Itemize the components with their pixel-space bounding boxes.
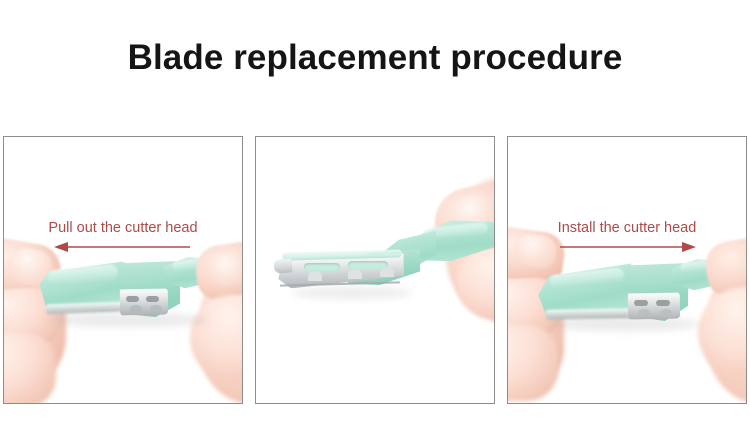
photo-cutter-head <box>256 137 494 403</box>
blade-notch-3 <box>380 267 394 277</box>
blade-notch-left <box>638 309 650 317</box>
tool-shadow <box>550 317 700 331</box>
blade-notch-right <box>660 309 672 317</box>
arrow-left-icon <box>4 241 242 253</box>
right-hand-fingers <box>698 287 746 379</box>
blade-cartridge <box>628 293 680 320</box>
panel-row: Pull out the cutter head <box>3 136 747 404</box>
arrow-right-icon <box>508 241 746 253</box>
blade-slot-left <box>634 300 648 306</box>
panel-install[interactable]: Install the cutter head <box>507 136 747 404</box>
photo-install <box>508 137 746 403</box>
caption-install: Install the cutter head <box>508 219 746 253</box>
tool-shadow <box>48 313 208 327</box>
panel-cutter-head[interactable] <box>255 136 495 404</box>
tool-shadow <box>292 287 412 299</box>
blade-slot-left <box>304 263 340 271</box>
right-hand-fingers <box>190 295 242 381</box>
blade-slot-right <box>146 296 159 302</box>
caption-pull-out-text: Pull out the cutter head <box>4 219 242 237</box>
blade-notch-left <box>130 305 142 313</box>
page-title-text: Blade replacement procedure <box>128 36 623 80</box>
page-root: Blade replacement procedure <box>0 0 750 425</box>
blade-notch-2 <box>348 269 362 279</box>
caption-pull-out: Pull out the cutter head <box>4 219 242 253</box>
blade-slot-left <box>126 296 139 302</box>
left-hand-lower-fingers <box>508 325 558 401</box>
blade-slot-right <box>656 300 670 306</box>
blade-notch-right <box>150 305 162 313</box>
left-hand-lower-fingers <box>4 333 56 403</box>
photo-pull-out <box>4 137 242 403</box>
blade-notch-1 <box>308 271 322 281</box>
page-title: Blade replacement procedure <box>0 36 750 80</box>
panel-pull-out[interactable]: Pull out the cutter head <box>3 136 243 404</box>
caption-install-text: Install the cutter head <box>508 219 746 237</box>
blade-hook-tip <box>274 258 293 273</box>
